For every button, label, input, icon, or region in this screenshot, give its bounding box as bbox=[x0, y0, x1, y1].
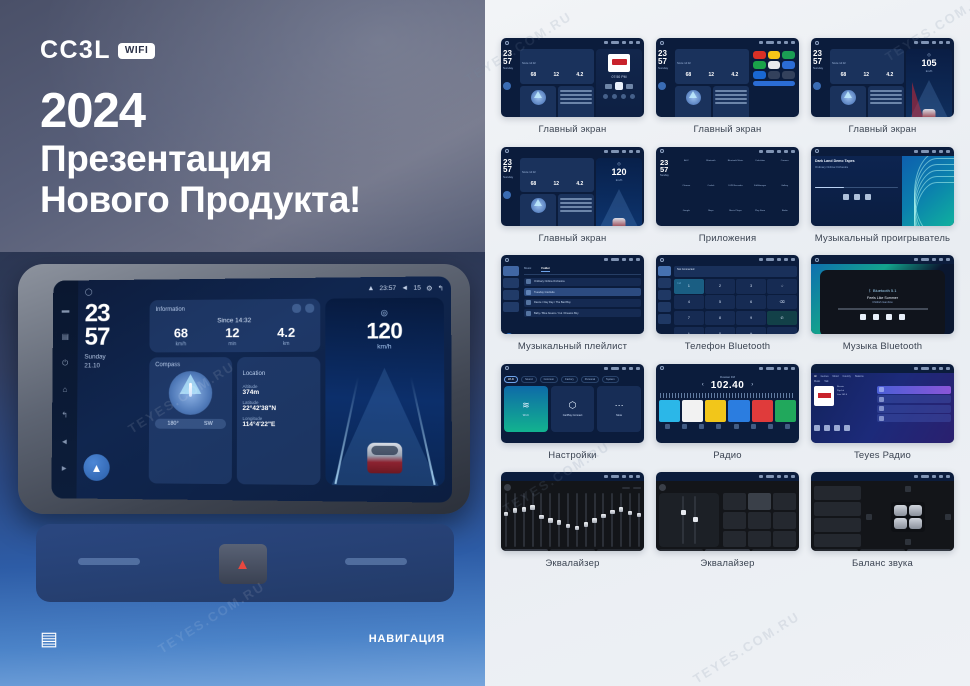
hero-title-line2: Нового Продукта! bbox=[40, 179, 361, 220]
album-art bbox=[505, 333, 513, 335]
stop-icon[interactable] bbox=[886, 314, 892, 320]
compass-dial-icon bbox=[531, 198, 546, 213]
info-refresh-icon[interactable] bbox=[292, 304, 301, 313]
tab-stations[interactable]: Stations bbox=[855, 375, 864, 378]
car-model-icon bbox=[613, 218, 626, 226]
location-title: Location bbox=[243, 371, 266, 377]
navigation-fab-icon[interactable] bbox=[813, 82, 821, 90]
gallery-caption: Главный экран bbox=[539, 233, 607, 245]
tab-balance[interactable]: Balance bbox=[705, 549, 749, 551]
eq-band[interactable] bbox=[549, 493, 551, 547]
info-settings-icon[interactable] bbox=[305, 304, 314, 313]
knob-icon[interactable] bbox=[659, 484, 666, 491]
pause-icon[interactable] bbox=[854, 194, 860, 200]
key-7[interactable]: 7 bbox=[674, 311, 704, 325]
eq-preset-buttons[interactable] bbox=[723, 493, 796, 547]
stat-3: 4.2 bbox=[576, 72, 583, 78]
car-model-icon bbox=[367, 443, 402, 474]
thumb-clock-minutes: 57 bbox=[660, 165, 668, 174]
gallery-item[interactable]: 23 57 Sunday Since 14:32 68124.2 bbox=[811, 38, 954, 136]
card-label: More bbox=[616, 414, 622, 417]
thumb-clock-minutes: 57 bbox=[503, 165, 512, 174]
screen-content: ◯ ▲ 23:57 ◄ 15 ⚙ ↰ bbox=[76, 276, 452, 502]
thumbnail-equalizer[interactable]: EQ Balance Fader bbox=[501, 472, 644, 551]
navigation-fab-icon[interactable] bbox=[503, 82, 511, 90]
subtab-music[interactable]: Music bbox=[814, 380, 820, 383]
gallery-caption: Главный экран bbox=[694, 124, 762, 136]
preset-button[interactable] bbox=[748, 531, 771, 548]
home-icon[interactable]: ⌂ bbox=[61, 385, 70, 394]
stat-2: 12 bbox=[554, 181, 560, 187]
thumbnail-music-player[interactable]: Dark Land Demo Tapes Ordinary Ordina Orc… bbox=[811, 147, 954, 226]
gallery-caption: Музыкальный плейлист bbox=[518, 341, 627, 353]
prev-station-icon[interactable]: ‹ bbox=[702, 382, 704, 388]
speed-road-widget[interactable]: ◎ 105 km/h bbox=[906, 49, 952, 117]
clock-day: Sunday bbox=[84, 353, 144, 362]
favorites-icon[interactable]: ☆ bbox=[767, 279, 797, 293]
app-icon bbox=[782, 51, 795, 59]
phone-sidebar[interactable] bbox=[658, 266, 671, 334]
thumbnail-radio[interactable]: Russian FM ‹ 102.40 › bbox=[656, 364, 799, 443]
card-label: CarPlay Connect bbox=[563, 414, 583, 417]
key-3[interactable]: 3 bbox=[736, 279, 766, 293]
prev-icon[interactable] bbox=[843, 194, 849, 200]
tab-system[interactable]: System bbox=[602, 376, 619, 383]
app-label: Camera bbox=[774, 160, 795, 162]
preset-rear[interactable] bbox=[814, 518, 861, 532]
preset-station bbox=[682, 400, 703, 422]
watermark: TEYES.COM.RU bbox=[690, 609, 802, 686]
prev-icon bbox=[605, 84, 612, 89]
album-art bbox=[608, 54, 630, 72]
key-8[interactable]: 8 bbox=[705, 311, 735, 325]
eq-preset-button[interactable] bbox=[622, 487, 630, 489]
preset-button[interactable] bbox=[773, 493, 796, 510]
eq-icon[interactable]: ▤ bbox=[61, 332, 70, 341]
play-pause-icon[interactable] bbox=[873, 314, 879, 320]
navigation-fab-icon[interactable] bbox=[503, 191, 511, 199]
now-playing-bar[interactable]: Dark Land Demo Tapes bbox=[501, 330, 644, 334]
navigation-fab-icon[interactable]: ▲ bbox=[83, 454, 109, 481]
next-icon[interactable] bbox=[899, 314, 905, 320]
balance-presets[interactable] bbox=[814, 486, 861, 547]
eq-band[interactable] bbox=[602, 493, 604, 547]
gallery-item[interactable]: Music Folder Ordinary Ordina Orchestra T… bbox=[501, 255, 644, 353]
thumbnail-home-media[interactable]: 23 57 Sunday Since 14:32 68124.2 bbox=[501, 38, 644, 117]
station-row[interactable] bbox=[877, 414, 951, 422]
preset-button[interactable] bbox=[773, 512, 796, 529]
eq-band[interactable] bbox=[558, 493, 560, 547]
gallery-caption: Радио bbox=[713, 450, 741, 462]
hazard-button[interactable]: ▲ bbox=[219, 544, 267, 584]
tab-fader[interactable]: Fader bbox=[597, 549, 641, 551]
app-label: Maps bbox=[701, 210, 722, 212]
progress-bar[interactable] bbox=[815, 187, 898, 189]
spacer bbox=[767, 327, 797, 334]
speed-value: 105 bbox=[921, 58, 936, 68]
key-hash[interactable]: # bbox=[736, 327, 766, 334]
station-row[interactable] bbox=[877, 405, 951, 413]
track-row[interactable]: Baby / Blue breeze / Cut / Dreams Boy bbox=[524, 309, 641, 317]
key-star[interactable]: * bbox=[674, 327, 704, 334]
tab-genres[interactable]: Genres bbox=[821, 375, 829, 378]
key-1[interactable]: 1 bbox=[674, 279, 704, 293]
thumbnail-playlist[interactable]: Music Folder Ordinary Ordina Orchestra T… bbox=[501, 255, 644, 334]
eq-band[interactable] bbox=[514, 493, 516, 547]
thumbnail-balance[interactable]: EQ Balance Fader bbox=[811, 472, 954, 551]
carplay-icon: ⬡ bbox=[569, 400, 577, 411]
eq-band[interactable] bbox=[620, 493, 622, 547]
stat-3: 4.2 bbox=[731, 72, 738, 78]
preset-button[interactable] bbox=[748, 493, 771, 510]
volume-up-icon[interactable]: ► bbox=[60, 464, 69, 473]
gallery-caption: Настройки bbox=[548, 450, 596, 462]
thumb-clock-day: Sunday bbox=[503, 67, 518, 71]
track-row[interactable]: Dance / Day Day / The Bad Boy bbox=[524, 299, 641, 307]
settings-card-wifi[interactable]: ≋ Wi-Fi bbox=[504, 386, 548, 432]
thumb-clock-day: Sunday bbox=[813, 67, 828, 71]
tab-personal[interactable]: Personal bbox=[581, 376, 599, 383]
compass-dial-icon bbox=[168, 371, 212, 415]
bluetooth-version: Bluetooth 5.1 bbox=[873, 288, 897, 293]
gallery-item[interactable]: 23 57 Sunday AUX Bluetooth Bluetooth Mus… bbox=[656, 147, 799, 245]
key-5[interactable]: 5 bbox=[705, 295, 735, 309]
app-icon bbox=[768, 61, 781, 69]
clock-minutes: 57 bbox=[84, 325, 144, 348]
gallery-item[interactable]: All Genres Mood Country Stations Music T… bbox=[811, 364, 954, 462]
gallery-caption: Teyes Радио bbox=[854, 450, 911, 462]
home-indicator-icon[interactable]: ◯ bbox=[85, 288, 93, 296]
gallery-item[interactable]: 23 57 Sunday Since 14:32 68124.2 bbox=[656, 38, 799, 136]
app-label: Carlink bbox=[701, 185, 722, 187]
card-label: Wi-Fi bbox=[523, 414, 529, 417]
preset-button[interactable] bbox=[773, 531, 796, 548]
preset-station bbox=[775, 400, 796, 422]
call-icon[interactable]: ✆ bbox=[767, 311, 797, 325]
stat-1: 68 bbox=[531, 181, 537, 187]
longitude-value: 114°4'22"E bbox=[242, 421, 314, 428]
dialpad[interactable]: 1 2 3 ☆ 4 5 6 ⌫ 7 8 9 ✆ bbox=[674, 279, 797, 334]
product-logo: CC3L WIFI bbox=[40, 36, 155, 65]
speed-unit: km/h bbox=[926, 69, 933, 73]
eq-band[interactable] bbox=[540, 493, 542, 547]
tab-sound[interactable]: Sound bbox=[521, 376, 537, 383]
thumbnail-home-apps[interactable]: 23 57 Sunday Since 14:32 68124.2 bbox=[656, 38, 799, 117]
preset-button[interactable] bbox=[723, 512, 746, 529]
gallery-caption: Эквалайзер bbox=[700, 558, 754, 570]
presentation-slide: CC3L WIFI 2024 Презентация Нового Продук… bbox=[0, 0, 970, 686]
teyes-subtabs[interactable]: Music Talk bbox=[814, 380, 951, 383]
screen-status-bar: ◯ ▲ 23:57 ◄ 15 ⚙ ↰ bbox=[85, 281, 444, 297]
eq-band[interactable] bbox=[576, 493, 578, 547]
location-card[interactable]: Location Altitude 374m Latitude 22°42'38… bbox=[236, 357, 320, 485]
tab-balance[interactable]: Balance bbox=[860, 549, 904, 551]
power-icon[interactable]: ⏻ bbox=[61, 358, 70, 367]
eq-band[interactable] bbox=[594, 493, 596, 547]
gallery-caption: Главный экран bbox=[539, 124, 607, 136]
thumbnail-home-road[interactable]: 23 57 Sunday Since 14:32 68124.2 bbox=[501, 147, 644, 226]
key-9[interactable]: 9 bbox=[736, 311, 766, 325]
thumbnail-bt-phone[interactable]: Not Connected Call 1 2 3 ☆ 4 5 6 bbox=[656, 255, 799, 334]
fader-sliders[interactable] bbox=[659, 493, 719, 547]
gallery-item[interactable]: 23 57 Sunday Since 14:32 68124.2 bbox=[501, 147, 644, 245]
gallery-item[interactable]: Not Connected Call 1 2 3 ☆ 4 5 6 bbox=[656, 255, 799, 353]
tab-eq[interactable]: EQ bbox=[814, 549, 858, 551]
preset-station bbox=[705, 400, 726, 422]
eq-sliders[interactable] bbox=[504, 491, 641, 549]
eq-bottom-tabs[interactable]: EQ Balance Fader bbox=[504, 549, 641, 551]
speed-gauge-icon: ◎ bbox=[927, 52, 931, 57]
stat-2: 12 bbox=[864, 72, 870, 78]
gallery-item[interactable]: EQ Balance Fader Эквалайзер bbox=[501, 472, 644, 570]
frequency-scale[interactable] bbox=[660, 393, 795, 398]
knob-icon[interactable] bbox=[504, 484, 511, 491]
seat-balance-pad[interactable] bbox=[866, 486, 951, 547]
stat-distance: 4.2 km bbox=[277, 326, 295, 347]
settings-card-more[interactable]: ⋯ More bbox=[597, 386, 641, 432]
clock-date: 21.10 bbox=[84, 362, 144, 371]
gallery-item[interactable]: Russian FM ‹ 102.40 › bbox=[656, 364, 799, 462]
preset-button[interactable] bbox=[748, 512, 771, 529]
settings-tabs[interactable]: Wi-Fi Sound Common Factory Personal Syst… bbox=[504, 376, 641, 383]
prev-icon[interactable] bbox=[814, 425, 820, 431]
gear-icon[interactable]: ⚙ bbox=[426, 284, 433, 292]
track-name: Dance / Day Day / The Bad Boy bbox=[534, 301, 571, 304]
back-arrow-icon[interactable]: ↰ bbox=[438, 284, 444, 292]
track-row[interactable]: Tuesday Interlude bbox=[524, 288, 641, 296]
favorite-icon[interactable] bbox=[844, 425, 850, 431]
eq-band[interactable] bbox=[523, 493, 525, 547]
next-station-icon[interactable]: › bbox=[751, 382, 753, 388]
tab-eq[interactable]: EQ bbox=[659, 549, 703, 551]
dial-input[interactable]: Not Connected Call bbox=[674, 266, 797, 277]
preset-all[interactable] bbox=[814, 534, 861, 548]
clock-widget: 23 57 Sunday 21.10 bbox=[84, 302, 145, 371]
tab-music[interactable]: Music bbox=[524, 266, 531, 272]
head-unit-screen: ▬ ▤ ⏻ ⌂ ↰ ◄ ► ◯ ▲ 23:57 bbox=[51, 276, 452, 502]
station-presets[interactable] bbox=[659, 400, 796, 422]
gallery-item[interactable]: 23 57 Sunday Since 14:32 68124.2 bbox=[501, 38, 644, 136]
information-card[interactable]: Information Since 14:32 bbox=[149, 299, 320, 353]
tab-wifi[interactable]: Wi-Fi bbox=[504, 376, 518, 383]
speed-gauge-icon: ◎ bbox=[617, 161, 621, 166]
preset-station bbox=[728, 400, 749, 422]
app-label: Calculator bbox=[750, 160, 771, 162]
arrow-left-icon[interactable] bbox=[866, 514, 872, 520]
thumb-clock-day: Sunday bbox=[658, 67, 673, 71]
compass-card[interactable]: Compass 180° SW bbox=[149, 357, 232, 484]
layers-icon: ▤ bbox=[40, 630, 58, 649]
app-icon bbox=[753, 61, 766, 69]
speed-value: 120 bbox=[611, 167, 626, 177]
speed-road-widget[interactable]: ◎ 120 km/h bbox=[325, 298, 445, 487]
arrow-down-icon[interactable] bbox=[905, 539, 911, 545]
tab-all[interactable]: All bbox=[814, 375, 817, 378]
track-artist: Childish Gambino bbox=[872, 301, 892, 304]
gallery-caption: Главный экран bbox=[849, 124, 917, 136]
gallery-caption: Приложения bbox=[699, 233, 757, 245]
meta-genre: Pop-hit bbox=[837, 390, 847, 392]
stat-speed: 68 km/h bbox=[174, 327, 188, 348]
thumb-clock-day: Sunday bbox=[503, 176, 518, 180]
track-title: Dark Land Demo Tapes bbox=[815, 159, 898, 163]
playlist-sidebar[interactable] bbox=[501, 264, 521, 334]
media-widget[interactable]: 07:50 PM bbox=[596, 49, 642, 117]
thumbnail-home-road-red[interactable]: 23 57 Sunday Since 14:32 68124.2 bbox=[811, 38, 954, 117]
tab-eq[interactable]: EQ bbox=[504, 549, 548, 551]
seats-diagram bbox=[891, 502, 925, 532]
stat-time-unit: min bbox=[225, 341, 239, 347]
app-label: DVR Recorder bbox=[725, 185, 746, 187]
tab-fader[interactable]: Fader bbox=[752, 549, 796, 551]
hazard-icon: ▲ bbox=[235, 556, 250, 573]
key-4[interactable]: 4 bbox=[674, 295, 704, 309]
app-label: Play Store bbox=[750, 210, 771, 212]
volume-icon[interactable]: ◄ bbox=[401, 285, 408, 292]
app-shortcuts-widget[interactable] bbox=[751, 49, 797, 117]
more-icon: ⋯ bbox=[615, 400, 624, 411]
eq-band[interactable] bbox=[567, 493, 569, 547]
volume-down-icon[interactable]: ◄ bbox=[60, 437, 69, 446]
thumb-since: Since 14:32 bbox=[522, 62, 536, 65]
visualizer bbox=[902, 156, 954, 226]
app-label: FileManager bbox=[750, 185, 771, 187]
gallery-caption: Баланс звука bbox=[852, 558, 913, 570]
clock-column: 23 57 Sunday 21.10 ▲ bbox=[83, 300, 144, 483]
preset-front[interactable] bbox=[814, 502, 861, 516]
clock-hours: 23 bbox=[85, 302, 145, 326]
next-icon[interactable] bbox=[865, 194, 871, 200]
thumbnail-bt-music[interactable]: ᛒ Bluetooth 5.1 Feels Like Summer Childi… bbox=[811, 255, 954, 334]
thumbnail-equalizer-2[interactable]: EQ Balance Fader bbox=[656, 472, 799, 551]
eq-band[interactable] bbox=[611, 493, 613, 547]
gallery-caption: Музыкальный проигрыватель bbox=[815, 233, 950, 245]
settings-card-carplay[interactable]: ⬡ CarPlay Connect bbox=[551, 386, 595, 432]
progress-bar[interactable] bbox=[838, 308, 928, 309]
eq-bottom-tabs[interactable]: EQ Balance Fader bbox=[814, 549, 951, 551]
latitude-value: 22°42'38"N bbox=[242, 405, 314, 412]
stat-2: 12 bbox=[554, 72, 560, 78]
station-row[interactable] bbox=[877, 386, 951, 394]
bluetooth-badge: ᛒ Bluetooth 5.1 bbox=[869, 288, 897, 293]
preset-driver[interactable] bbox=[814, 486, 861, 500]
track-name: Ordinary Ordina Orchestra bbox=[534, 280, 565, 283]
altitude-value: 374m bbox=[243, 389, 315, 396]
tab-factory[interactable]: Factory bbox=[561, 376, 578, 383]
stat-3: 4.2 bbox=[576, 181, 583, 187]
stat-2: 12 bbox=[709, 72, 715, 78]
thumbnail-apps[interactable]: 23 57 Sunday AUX Bluetooth Bluetooth Mus… bbox=[656, 147, 799, 226]
preset-station bbox=[659, 400, 680, 422]
app-grid[interactable]: AUX Bluetooth Bluetooth Music Calculator… bbox=[674, 159, 795, 226]
album-art bbox=[814, 386, 834, 406]
speed-road-widget[interactable]: ◎ 120 km/h bbox=[596, 158, 642, 226]
fader-band[interactable] bbox=[694, 496, 696, 544]
next-icon bbox=[626, 84, 633, 89]
station-row[interactable] bbox=[877, 395, 951, 403]
arrow-up-icon[interactable] bbox=[905, 486, 911, 492]
thumbnail-settings[interactable]: Wi-Fi Sound Common Factory Personal Syst… bbox=[501, 364, 644, 443]
stop-icon[interactable] bbox=[824, 425, 830, 431]
logo-text: CC3L bbox=[40, 36, 111, 65]
eq-band[interactable] bbox=[505, 493, 507, 547]
key-2[interactable]: 2 bbox=[705, 279, 735, 293]
gallery-item[interactable]: EQ Balance Fader Эквалайзер bbox=[656, 472, 799, 570]
eq-reset-button[interactable] bbox=[633, 487, 641, 489]
speed-unit: km/h bbox=[616, 178, 623, 182]
preset-button[interactable] bbox=[723, 531, 746, 548]
status-volume: 15 bbox=[413, 285, 420, 292]
next-icon[interactable] bbox=[834, 425, 840, 431]
thumb-clock-minutes: 57 bbox=[658, 57, 667, 66]
prev-icon[interactable] bbox=[860, 314, 866, 320]
eq-band[interactable] bbox=[532, 493, 534, 547]
preset-button[interactable] bbox=[723, 493, 746, 510]
information-title: Information bbox=[156, 306, 185, 312]
subtab-talk[interactable]: Talk bbox=[824, 380, 828, 383]
fader-band[interactable] bbox=[682, 496, 684, 544]
compass-title: Compass bbox=[155, 362, 225, 368]
stat-time: 12 min bbox=[225, 326, 239, 347]
radio-toolbar[interactable] bbox=[659, 424, 796, 429]
app-label: Chrome bbox=[676, 185, 697, 187]
track-row[interactable]: Ordinary Ordina Orchestra bbox=[524, 278, 641, 286]
track-name: Baby / Blue breeze / Cut / Dreams Boy bbox=[534, 312, 579, 315]
eq-band[interactable] bbox=[638, 493, 640, 547]
speed-value: 120 bbox=[366, 318, 402, 344]
tab-country[interactable]: Country bbox=[843, 375, 851, 378]
back-icon[interactable]: ↰ bbox=[60, 411, 69, 420]
home-widgets: 23 57 Sunday 21.10 ▲ Infor bbox=[83, 298, 444, 487]
meta-country: Russia bbox=[837, 386, 847, 388]
wifi-icon: ≋ bbox=[522, 400, 530, 411]
car-model-icon bbox=[923, 109, 936, 117]
eq-band[interactable] bbox=[629, 493, 631, 547]
navigation-fab-icon[interactable] bbox=[658, 82, 666, 90]
app-label: Music Player bbox=[725, 210, 746, 212]
key-0[interactable]: 0 bbox=[705, 327, 735, 334]
stat-1: 68 bbox=[686, 72, 692, 78]
arrow-right-icon[interactable] bbox=[945, 514, 951, 520]
backspace-icon[interactable]: ⌫ bbox=[767, 295, 797, 309]
hero-panel: CC3L WIFI 2024 Презентация Нового Продук… bbox=[0, 0, 485, 686]
compass-dial-icon bbox=[686, 90, 701, 105]
tab-common[interactable]: Common bbox=[540, 376, 559, 383]
gallery-item[interactable]: Dark Land Demo Tapes Ordinary Ordina Orc… bbox=[811, 147, 954, 245]
bluetooth-icon: ᛒ bbox=[869, 288, 871, 293]
station-list[interactable] bbox=[877, 386, 951, 423]
app-label: AUX bbox=[676, 160, 697, 162]
stat-speed-unit: km/h bbox=[174, 341, 188, 347]
tab-mood[interactable]: Mood bbox=[833, 375, 839, 378]
mute-icon[interactable]: ▬ bbox=[61, 306, 70, 315]
tab-fader[interactable]: Fader bbox=[907, 549, 951, 551]
screen-side-rail[interactable]: ▬ ▤ ⏻ ⌂ ↰ ◄ ► bbox=[51, 280, 78, 498]
gallery-item[interactable]: Wi-Fi Sound Common Factory Personal Syst… bbox=[501, 364, 644, 462]
compass-dial-icon bbox=[841, 90, 856, 105]
tab-balance[interactable]: Balance bbox=[550, 549, 594, 551]
tab-folder[interactable]: Folder bbox=[541, 266, 550, 272]
key-6[interactable]: 6 bbox=[736, 295, 766, 309]
gallery-item[interactable]: ᛒ Bluetooth 5.1 Feels Like Summer Childi… bbox=[811, 255, 954, 353]
thumbnail-teyes-radio[interactable]: All Genres Mood Country Stations Music T… bbox=[811, 364, 954, 443]
teyes-tabs[interactable]: All Genres Mood Country Stations bbox=[814, 375, 951, 378]
gallery-caption: Эквалайзер bbox=[545, 558, 599, 570]
eq-band[interactable] bbox=[585, 493, 587, 547]
gallery-item[interactable]: EQ Balance Fader Баланс звука bbox=[811, 472, 954, 570]
hero-title-line1: Презентация bbox=[40, 138, 361, 179]
eq-bottom-tabs[interactable]: EQ Balance Fader bbox=[659, 549, 796, 551]
